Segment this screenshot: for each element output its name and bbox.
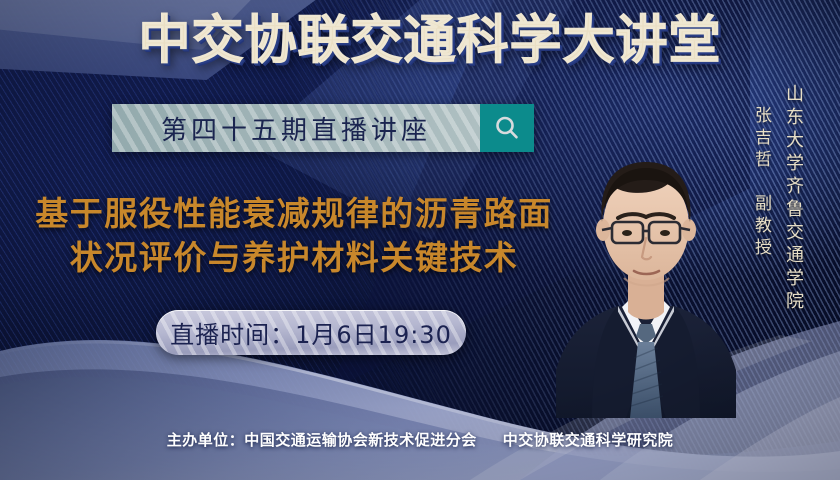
schedule-badge: 直播时间：1月6日19:30 <box>156 310 466 355</box>
organizer-secondary: 中交协联交通科学研究院 <box>503 431 674 449</box>
search-icon[interactable] <box>480 104 534 152</box>
episode-banner: 第四十五期直播讲座 <box>112 104 534 152</box>
poster-headline: 中交协联交通科学大讲堂 <box>0 14 840 69</box>
lecture-title-line-1: 基于服役性能衰减规律的沥青路面 <box>14 192 574 236</box>
episode-banner-body: 第四十五期直播讲座 <box>112 104 480 152</box>
schedule-label: 直播时间：1月6日19:30 <box>170 315 452 350</box>
live-lecture-poster: 中交协联交通科学大讲堂 第四十五期直播讲座 基于服役性能衰减规律的沥青路面 状况… <box>0 0 840 480</box>
speaker-name-title: 张吉哲 副教授 <box>749 106 774 260</box>
organizer-primary: 主办单位：中国交通运输协会新技术促进分会 <box>167 431 477 449</box>
organizer-footer: 主办单位：中国交通运输协会新技术促进分会中交协联交通科学研究院 <box>0 429 840 450</box>
speaker-info: 张吉哲 副教授 山东大学齐鲁交通学院 <box>749 84 806 314</box>
lecture-title: 基于服役性能衰减规律的沥青路面 状况评价与养护材料关键技术 <box>14 192 574 280</box>
lecture-title-line-2: 状况评价与养护材料关键技术 <box>14 236 574 280</box>
speaker-affiliation: 山东大学齐鲁交通学院 <box>780 84 806 314</box>
speaker-portrait <box>556 86 736 418</box>
episode-label: 第四十五期直播讲座 <box>161 110 431 147</box>
